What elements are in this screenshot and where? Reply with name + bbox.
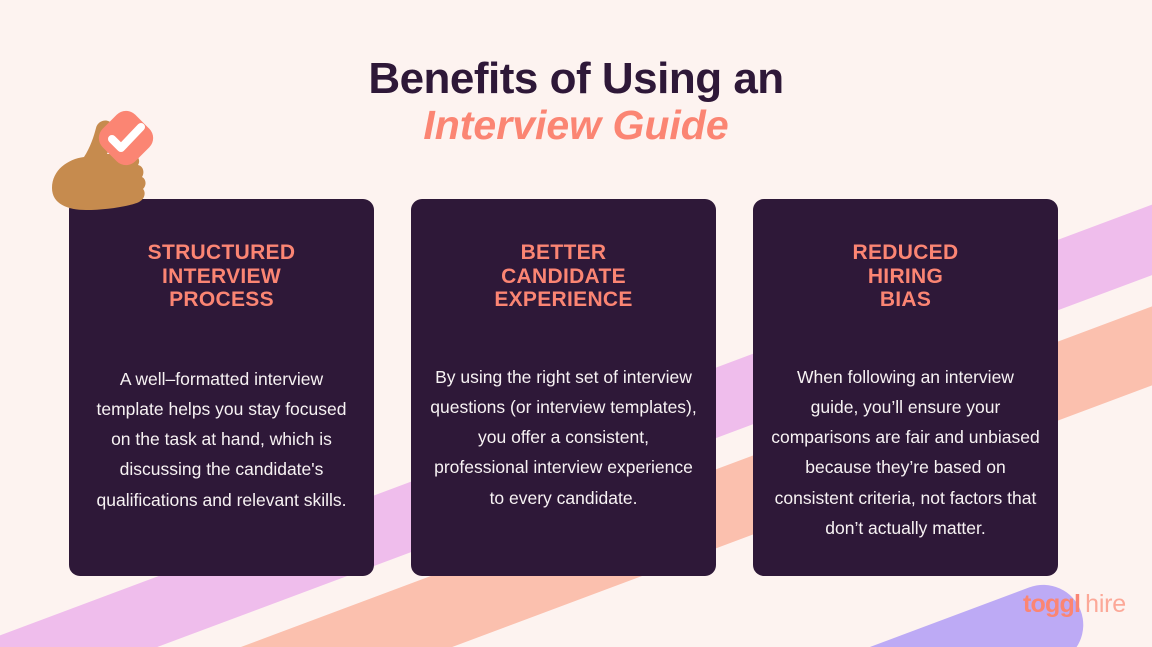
benefit-cards: STRUCTURED INTERVIEW PROCESS A well–form… (69, 199, 1058, 576)
stripe-blue (486, 573, 1095, 647)
benefit-card: REDUCED HIRING BIAS When following an in… (753, 199, 1058, 576)
benefit-card-heading: STRUCTURED INTERVIEW PROCESS (87, 241, 356, 312)
benefit-card-heading: REDUCED HIRING BIAS (771, 241, 1040, 312)
logo-brand-text: toggl (1023, 590, 1080, 619)
page-title-line-1: Benefits of Using an (0, 57, 1152, 101)
benefit-card-heading: BETTER CANDIDATE EXPERIENCE (429, 241, 698, 312)
thumbs-up-icon (46, 110, 176, 225)
toggl-hire-logo: toggl hire (1023, 590, 1126, 619)
slide-canvas: Benefits of Using an Interview Guide STR… (0, 0, 1152, 647)
benefit-card-body: When following an interview guide, you’l… (771, 362, 1040, 543)
logo-product-text: hire (1085, 590, 1126, 619)
benefit-card: STRUCTURED INTERVIEW PROCESS A well–form… (69, 199, 374, 576)
benefit-card: BETTER CANDIDATE EXPERIENCE By using the… (411, 199, 716, 576)
benefit-card-body: A well–formatted interview template help… (87, 364, 356, 514)
benefit-card-body: By using the right set of interview ques… (429, 362, 698, 512)
